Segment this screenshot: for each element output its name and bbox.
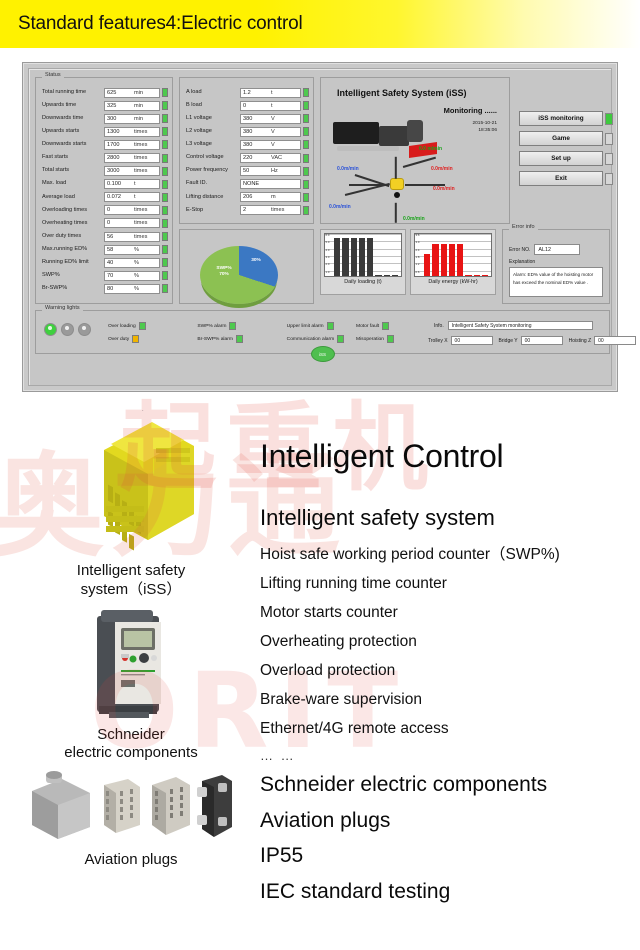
row-label: A load (184, 90, 240, 96)
y-axis-tick: 1.2 (416, 262, 420, 266)
row-value: 380 (243, 142, 252, 148)
error-info-label: Error info (509, 224, 538, 230)
row-value: 0 (107, 207, 110, 213)
warning-indicator: Br-SWP% alarm (197, 335, 278, 343)
row-led (303, 127, 309, 136)
row-led (162, 245, 168, 254)
vfd-caption: Schneider electric components (8, 726, 254, 764)
content-subheading: Intelligent safety system (260, 505, 638, 531)
hoist-rail-icon (337, 146, 399, 151)
y-axis-tick: 6.0 (326, 233, 330, 237)
row-led (303, 101, 309, 110)
button-led (605, 133, 613, 145)
info-value[interactable]: Intelligent Safety System monitoring (448, 321, 593, 330)
chart-bar (334, 238, 340, 276)
pie-slice-label-other: 30% (244, 258, 268, 264)
row-label: L3 voltage (184, 142, 240, 148)
row-value: 325 (107, 103, 116, 109)
row-unit: V (271, 129, 275, 135)
row-unit: VAC (271, 155, 282, 161)
row-value: 0.100 (107, 181, 121, 187)
feature-item: Brake-ware supervision (260, 691, 638, 709)
chart-gridline (325, 234, 401, 235)
row-value: 380 (243, 116, 252, 122)
table-row: Lifting distance206m (184, 191, 309, 204)
chart-bar (359, 238, 365, 276)
row-label: Overheating times (40, 221, 104, 227)
row-label: L2 voltage (184, 129, 240, 135)
status-knob-icon[interactable]: iSS (311, 346, 335, 362)
row-value-field[interactable]: 70% (104, 271, 160, 281)
fault-label: Motor fault (356, 324, 379, 329)
footer-item: Schneider electric components (260, 771, 638, 799)
row-label: Downwards time (40, 116, 104, 122)
y-axis-tick: 1.8 (416, 255, 420, 259)
row-label: Total running time (40, 90, 104, 96)
row-value-field[interactable]: 0.100t (104, 179, 160, 189)
row-led (303, 180, 309, 189)
row-value: 56 (107, 234, 113, 240)
feature-item: Hoist safe working period counter（SWP%) (260, 542, 638, 564)
hmi-panel-inner: Status Total running time625minUpwards t… (28, 68, 612, 386)
row-value: 380 (243, 129, 252, 135)
row-value-field[interactable]: 1300times (104, 127, 160, 137)
parameter-table: A load1.2tB load0tL1 voltage380VL2 volta… (184, 86, 309, 217)
y-axis-tick: 4.0 (326, 248, 330, 252)
daily-energy-chart: 3.63.02.41.81.20.60.0 Daily energy (kW-h… (410, 229, 496, 295)
warning-indicator: SWP% alarm (197, 322, 278, 330)
row-label: Fault ID. (184, 181, 240, 187)
hmi-button-game[interactable]: Game (519, 131, 603, 146)
iss-display-group: Intelligent Safety System (iSS) Monitori… (320, 77, 510, 224)
row-value-field[interactable]: 58% (104, 245, 160, 255)
direction-arrow-down (395, 203, 397, 223)
table-row: Br-SWP%80% (40, 282, 168, 295)
hmi-button-stack: iSS monitoringGameSet upExit (519, 111, 603, 191)
table-row: Over duty times56times (40, 230, 168, 243)
chart-bar (375, 275, 381, 276)
chart-bar (392, 275, 398, 276)
row-unit: times (134, 142, 147, 148)
row-unit: t (134, 181, 136, 187)
row-led (162, 167, 168, 176)
row-value-field[interactable]: 50Hz (240, 166, 301, 176)
chart-bar (482, 275, 488, 276)
footer-item: Aviation plugs (260, 807, 638, 835)
hook-sheave-icon (394, 192, 400, 198)
chart-bar (384, 275, 390, 276)
table-row: Total starts3000times (40, 165, 168, 178)
swp-pie-chart: SWP%70% 30% (188, 238, 298, 316)
row-value: 2800 (107, 155, 119, 161)
row-value: 1.2 (243, 90, 251, 96)
chart-bar (342, 238, 348, 276)
product-column: Intelligent safety system（iSS） (8, 402, 254, 870)
row-label: Average load (40, 195, 104, 201)
row-unit: % (134, 286, 139, 292)
info-label: Info. (434, 323, 444, 329)
lamp-green (44, 323, 57, 336)
daily-loading-caption: Daily loading (t) (324, 277, 402, 285)
feature-item: Motor starts counter (260, 604, 638, 622)
row-value: 58 (107, 247, 113, 253)
y-axis-tick: 3.6 (416, 233, 420, 237)
iss-title: Intelligent Safety System (iSS) (337, 88, 467, 98)
swp-pie-group: SWP%70% 30% (179, 229, 314, 304)
status-group: Status Total running time625minUpwards t… (35, 77, 173, 304)
row-label: Downwards starts (40, 142, 104, 148)
table-row: L3 voltage380V (184, 138, 309, 151)
relay-caption: Intelligent safety system（iSS） (8, 562, 254, 600)
row-value: 0.072 (107, 194, 121, 200)
warning-indicator: Over loading (108, 322, 189, 330)
row-led (162, 232, 168, 241)
warning-label: SWP% alarm (197, 324, 226, 329)
row-value-field[interactable]: 0times (104, 205, 160, 215)
axis-value[interactable]: 00 (521, 336, 563, 345)
button-label: iSS monitoring (538, 115, 583, 122)
row-unit: V (271, 142, 275, 148)
row-label: Upwards time (40, 103, 104, 109)
row-label: SWP% (40, 273, 104, 279)
row-led (303, 114, 309, 123)
y-axis-tick: 3.0 (416, 240, 420, 244)
row-value: 206 (243, 194, 252, 200)
y-axis-tick: 5.0 (326, 240, 330, 244)
info-row: Info. Intelligent Safety System monitori… (434, 321, 593, 330)
warning-label: Over loading (108, 324, 136, 329)
warning-label: Communication alarm (287, 337, 335, 342)
table-row: B load0t (184, 99, 309, 112)
speed-label-right: 0.0m/min (433, 186, 455, 192)
row-value-field[interactable]: 2times (240, 205, 301, 215)
row-value-field[interactable]: 56times (104, 232, 160, 242)
y-axis-tick: 2.4 (416, 248, 420, 252)
row-value-field[interactable]: 220VAC (240, 153, 301, 163)
chart-bar (474, 275, 480, 276)
row-value-field[interactable]: 2800times (104, 153, 160, 163)
row-unit: t (271, 103, 273, 109)
hoist-motor-icon (407, 120, 423, 142)
hmi-button-set-up[interactable]: Set up (519, 151, 603, 166)
row-value: 625 (107, 90, 116, 96)
row-led (162, 284, 168, 293)
warning-led (327, 322, 334, 330)
table-row: Fast starts2800times (40, 151, 168, 164)
speed-label-down: 0.0m/min (403, 216, 425, 222)
speed-label-hoist-up: 0.0 m/min (419, 146, 442, 152)
error-no-label: Error NO. (509, 247, 530, 253)
row-unit: Hz (271, 168, 278, 174)
plugs-caption: Aviation plugs (8, 851, 254, 870)
hmi-panel: Status Total running time625minUpwards t… (22, 62, 618, 392)
chart-bars (424, 236, 488, 276)
fault-indicator: Motor fault (356, 322, 426, 330)
row-label: Lifting distance (184, 195, 240, 201)
row-label: B load (184, 103, 240, 109)
row-led (303, 154, 309, 163)
feature-item: Overheating protection (260, 633, 638, 651)
row-value-field[interactable]: 206m (240, 192, 301, 202)
parameter-group: A load1.2tB load0tL1 voltage380VL2 volta… (179, 77, 314, 224)
schneider-vfd-image (87, 604, 175, 722)
speed-label-upright: 0.0m/min (431, 166, 453, 172)
content-heading: Intelligent Control (260, 438, 638, 475)
warning-indicator: Over duty (108, 335, 189, 343)
table-row: Upwards starts1300times (40, 125, 168, 138)
hmi-button-exit[interactable]: Exit (519, 171, 603, 186)
row-unit: times (271, 207, 284, 213)
chart-bar (432, 244, 438, 276)
axis-value[interactable]: 00 (594, 336, 636, 345)
table-row: Overheating times0times (40, 217, 168, 230)
row-label: Running ED% limit (40, 260, 104, 266)
status-table: Total running time625minUpwards time325m… (40, 86, 168, 296)
row-unit: times (134, 207, 147, 213)
axis-position-row: Trolley X00Bridge Y00Hoisting Z00 (428, 336, 636, 345)
vfd-svg (87, 604, 175, 722)
row-value: 3000 (107, 168, 119, 174)
row-unit: m (271, 194, 276, 200)
y-axis-tick: 1.0 (326, 270, 330, 274)
feature-item: Ethernet/4G remote access (260, 720, 638, 738)
table-row: Average load0.072t (40, 191, 168, 204)
row-led (303, 193, 309, 202)
speed-label-left: 0.0m/min (329, 204, 351, 210)
speed-label-upleft: 0.0m/min (337, 166, 359, 172)
button-led (605, 173, 613, 185)
row-unit: % (134, 273, 139, 279)
page-header: Standard features4:Electric control (0, 0, 640, 48)
row-led (162, 219, 168, 228)
row-label: Br-SWP% (40, 286, 104, 292)
warning-lights-group: Warning lights Over loadingSWP% alarmUpp… (35, 310, 610, 354)
row-unit: times (134, 220, 147, 226)
row-label: E-Stop (184, 208, 240, 214)
table-row: Running ED% limit40% (40, 256, 168, 269)
table-row: Max.running ED%58% (40, 243, 168, 256)
chart-bar (351, 238, 357, 276)
page-title: Standard features4:Electric control (18, 13, 303, 35)
intelligent-safety-relay-image (56, 410, 206, 558)
row-value-field[interactable]: 80% (104, 284, 160, 294)
chart-bars (334, 236, 398, 276)
lamp-row (44, 323, 91, 336)
button-label: Game (552, 135, 570, 142)
row-led (162, 154, 168, 163)
row-value-field[interactable]: 325min (104, 101, 160, 111)
y-axis-tick: 3.0 (326, 255, 330, 259)
daily-energy-caption: Daily energy (kW-hr) (414, 277, 492, 285)
row-led (162, 88, 168, 97)
table-row: L2 voltage380V (184, 125, 309, 138)
chart-bar (441, 244, 447, 276)
row-label: Upwards starts (40, 129, 104, 135)
row-led (162, 114, 168, 123)
row-value: 0 (107, 220, 110, 226)
warning-led (229, 322, 236, 330)
footer-item: IP55 (260, 842, 638, 870)
row-value: 220 (243, 155, 252, 161)
row-value-field[interactable]: 380V (240, 127, 301, 137)
row-unit: min (134, 90, 143, 96)
row-value: 1300 (107, 129, 119, 135)
row-led (162, 180, 168, 189)
row-unit: % (134, 247, 139, 253)
row-value: 50 (243, 168, 249, 174)
row-unit: times (134, 168, 147, 174)
explanation-text: Alarm: ED% value of the hoisting motor h… (509, 267, 603, 297)
plugs-svg (24, 769, 239, 847)
lower-section: Intelligent safety system（iSS） (0, 398, 640, 950)
button-led (605, 153, 613, 165)
row-value-field[interactable]: 3000times (104, 166, 160, 176)
row-unit: min (134, 103, 143, 109)
axis-label: Trolley X (428, 338, 448, 344)
row-value: 40 (107, 260, 113, 266)
feature-item: Lifting running time counter (260, 575, 638, 593)
row-value: NONE (243, 181, 259, 187)
monitoring-status: Monitoring ...... (444, 106, 497, 115)
row-value-field[interactable]: 40% (104, 258, 160, 268)
row-value: 300 (107, 116, 116, 122)
error-info-group: Error info Error NO. AL12 Explanation Al… (502, 229, 610, 304)
row-led (162, 127, 168, 136)
warning-led (337, 335, 344, 343)
table-row: L1 voltage380V (184, 112, 309, 125)
axis-label: Hoisting Z (569, 338, 592, 344)
table-row: SWP%70% (40, 269, 168, 282)
table-row: Downwards starts1700times (40, 138, 168, 151)
row-unit: times (134, 155, 147, 161)
warning-label: Br-SWP% alarm (197, 337, 233, 342)
row-value-field[interactable]: 0times (104, 218, 160, 228)
row-led (303, 88, 309, 97)
warning-label: Upper limit alarm (287, 324, 324, 329)
row-value: 1700 (107, 142, 119, 148)
row-unit: t (271, 90, 273, 96)
row-value: 2 (243, 207, 246, 213)
feature-item: Overload protection (260, 662, 638, 680)
row-value: 0 (243, 103, 246, 109)
chart-gridline (415, 234, 491, 235)
hmi-button-iss-monitoring[interactable]: iSS monitoring (519, 111, 603, 126)
row-led (162, 258, 168, 267)
lamp-idle-2 (78, 323, 91, 336)
table-row: Fault ID.NONE (184, 178, 309, 191)
hoist-drum-icon (379, 126, 409, 146)
row-unit: min (134, 116, 143, 122)
aviation-plugs-image (24, 769, 239, 847)
fault-led (387, 335, 394, 343)
chart-bar (367, 238, 373, 276)
axis-field: Bridge Y00 (499, 336, 563, 345)
relay-svg (56, 410, 206, 558)
row-value-field[interactable]: 625min (104, 88, 160, 98)
warning-led (139, 322, 146, 330)
warning-indicator-grid: Over loadingSWP% alarmUpper limit alarmO… (108, 322, 368, 343)
row-led (162, 101, 168, 110)
row-value-field[interactable]: NONE (240, 179, 301, 189)
row-value-field[interactable]: 1700times (104, 140, 160, 150)
daily-loading-plot: 6.05.04.03.02.01.00.0 (324, 233, 402, 277)
button-label: Exit (555, 175, 567, 182)
row-led (162, 206, 168, 215)
row-label: Control voltage (184, 155, 240, 161)
feature-list: Hoist safe working period counter（SWP%)L… (260, 542, 638, 738)
row-label: Power frequency (184, 168, 240, 174)
chart-bar (449, 244, 455, 276)
row-label: Over duty times (40, 234, 104, 240)
row-value-field[interactable]: 380V (240, 114, 301, 124)
fault-indicator-grid: Motor faultMisoperation (356, 322, 426, 343)
y-axis-tick: 0.6 (416, 270, 420, 274)
row-label: Max. load (40, 181, 104, 187)
status-group-label: Status (42, 72, 64, 78)
table-row: E-Stop2times (184, 204, 309, 217)
relay-caption-line1: Intelligent safety system（iSS） (77, 562, 185, 598)
ellipsis-text: … … (260, 748, 638, 763)
fault-led (382, 322, 389, 330)
direction-arrow-up (395, 157, 397, 179)
row-value-field[interactable]: 0.072t (104, 192, 160, 202)
row-label: Total starts (40, 168, 104, 174)
table-row: Power frequency50Hz (184, 165, 309, 178)
row-label: Overloading times (40, 208, 104, 214)
hoist-illustration: 0.0 m/min 0.0m/min 0.0m/min 0.0m/min 0.0… (327, 116, 477, 234)
axis-field: Hoisting Z00 (569, 336, 637, 345)
row-unit: t (134, 194, 136, 200)
row-led (162, 193, 168, 202)
row-label: Fast starts (40, 155, 104, 161)
warning-led (132, 335, 139, 343)
table-row: Total running time625min (40, 86, 168, 99)
row-unit: times (134, 129, 147, 135)
row-label: Max.running ED% (40, 247, 104, 253)
row-value: 80 (107, 286, 113, 292)
axis-field: Trolley X00 (428, 336, 493, 345)
content-column: Intelligent Control Intelligent safety s… (260, 438, 638, 906)
row-value: 70 (107, 273, 113, 279)
row-led (162, 271, 168, 280)
row-unit: V (271, 116, 275, 122)
warning-lights-label: Warning lights (42, 305, 83, 311)
row-value-field[interactable]: 1.2t (240, 88, 301, 98)
row-led (303, 167, 309, 176)
table-row: Max. load0.100t (40, 178, 168, 191)
row-value-field[interactable]: 0t (240, 101, 301, 111)
table-row: Upwards time325min (40, 99, 168, 112)
vfd-caption-text: Schneider electric components (64, 726, 197, 762)
row-value-field[interactable]: 300min (104, 114, 160, 124)
row-value-field[interactable]: 380V (240, 140, 301, 150)
chart-bar (457, 244, 463, 276)
row-unit: % (134, 260, 139, 266)
chart-bar (465, 275, 471, 276)
table-row: Overloading times0times (40, 204, 168, 217)
row-led (303, 206, 309, 215)
lamp-idle-1 (61, 323, 74, 336)
fault-indicator: Misoperation (356, 335, 426, 343)
fault-label: Misoperation (356, 337, 384, 342)
table-row: A load1.2t (184, 86, 309, 99)
daily-energy-plot: 3.63.02.41.81.20.60.0 (414, 233, 492, 277)
row-unit: times (134, 234, 147, 240)
axis-value[interactable]: 00 (451, 336, 493, 345)
footer-item: IEC standard testing (260, 878, 638, 906)
button-label: Set up (551, 155, 571, 162)
table-row: Downwards time300min (40, 112, 168, 125)
